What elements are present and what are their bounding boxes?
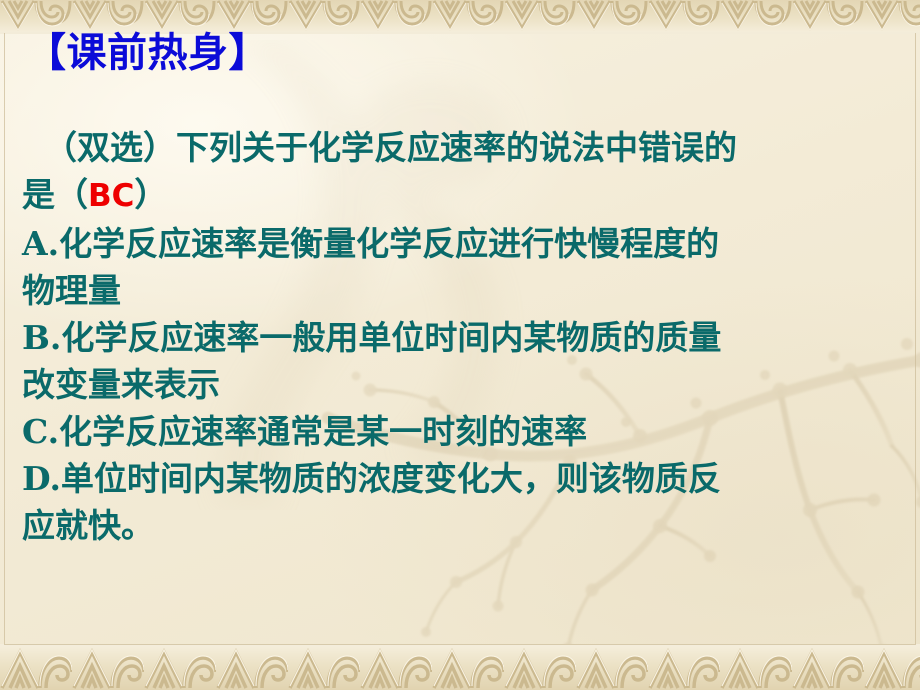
question-body: （双选）下列关于化学反应速率的说法中错误的 是（BC） A.化学反应速率是衡量化… bbox=[22, 124, 898, 549]
question-stem-suffix: ） bbox=[134, 175, 167, 214]
question-stem-line-1: （双选）下列关于化学反应速率的说法中错误的 bbox=[22, 124, 898, 171]
option-b-line-1: B.化学反应速率一般用单位时间内某物质的质量 bbox=[22, 314, 898, 361]
page-title: 【课前热身】 bbox=[26, 32, 269, 74]
option-d-line-1: D.单位时间内某物质的浓度变化大，则该物质反 bbox=[22, 455, 898, 502]
slide-content: 【课前热身】 （双选）下列关于化学反应速率的说法中错误的 是（BC） A.化学反… bbox=[0, 0, 920, 690]
option-a-line-2: 物理量 bbox=[22, 267, 898, 314]
question-stem-line-2: 是（BC） bbox=[22, 171, 898, 220]
option-c-line-1: C.化学反应速率通常是某一时刻的速率 bbox=[22, 408, 898, 455]
presentation-slide: 【课前热身】 （双选）下列关于化学反应速率的说法中错误的 是（BC） A.化学反… bbox=[0, 0, 920, 690]
answer-key: BC bbox=[88, 178, 134, 214]
option-a-line-1: A.化学反应速率是衡量化学反应进行快慢程度的 bbox=[22, 220, 898, 267]
question-stem-prefix: 是（ bbox=[22, 175, 88, 214]
option-d-line-2: 应就快。 bbox=[22, 502, 898, 549]
option-b-line-2: 改变量来表示 bbox=[22, 361, 898, 408]
